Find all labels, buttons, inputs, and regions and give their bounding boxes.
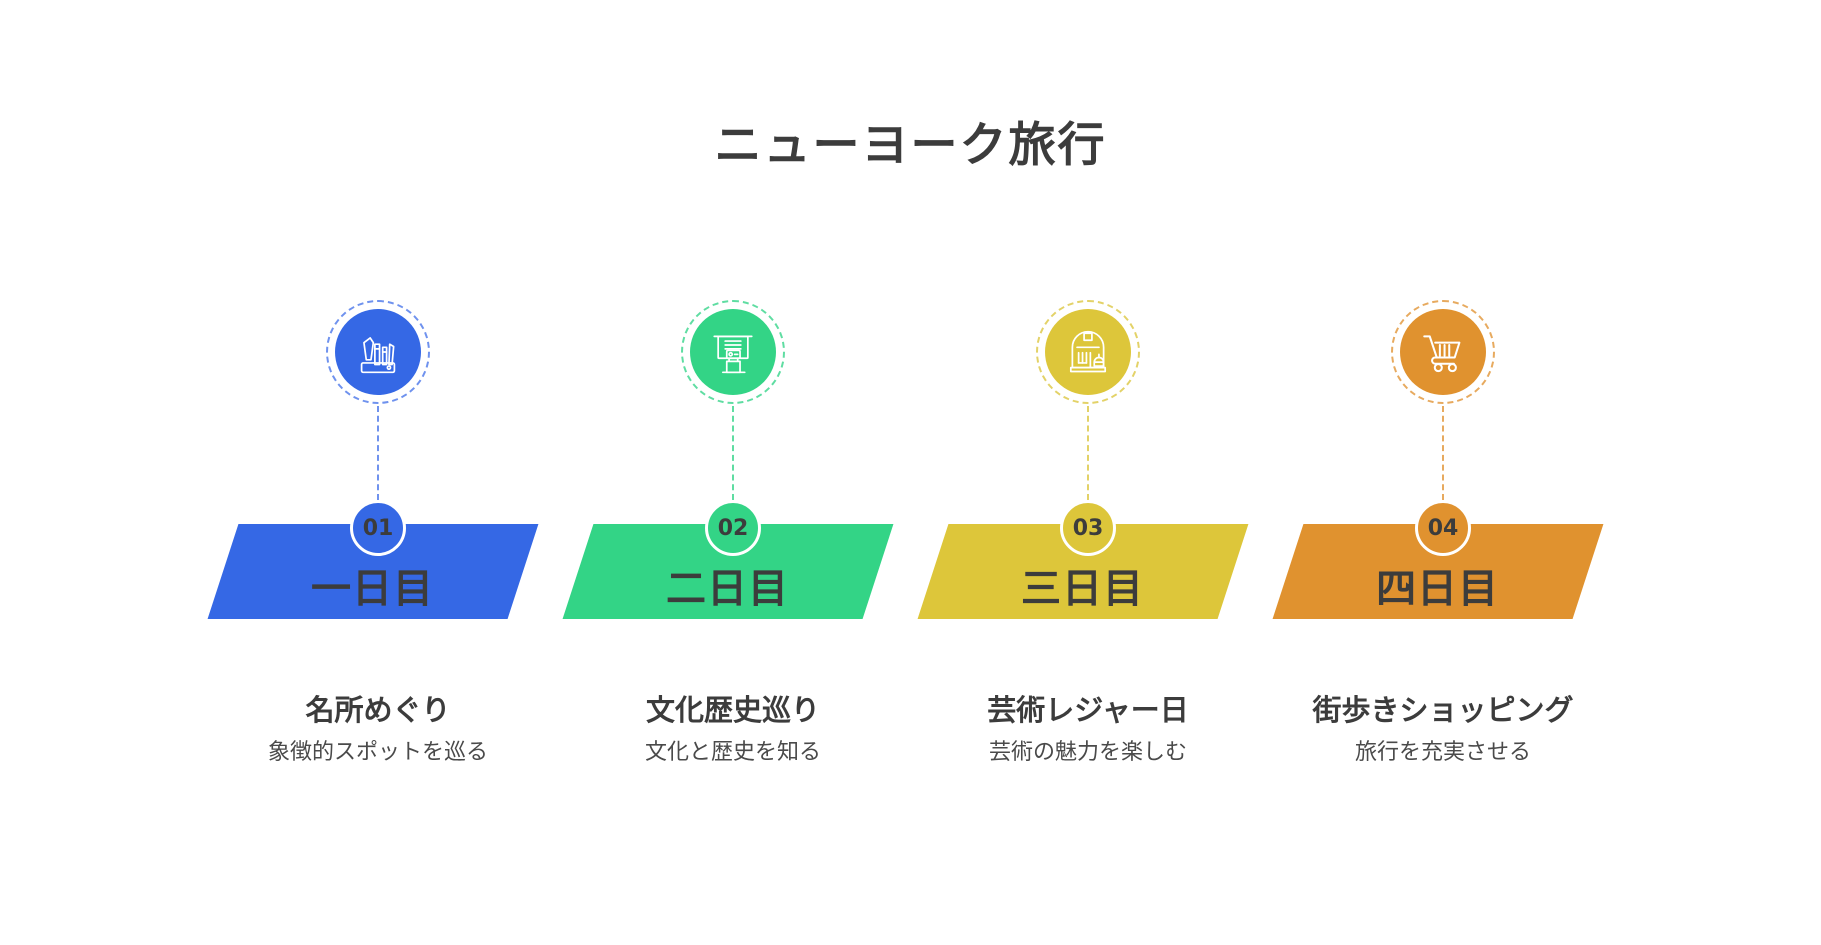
- step-band-area[interactable]: 三日目 03: [911, 500, 1266, 640]
- step-band-area[interactable]: 四日目 04: [1266, 500, 1621, 640]
- step-band-area[interactable]: 二日目 02: [556, 500, 911, 640]
- step-item[interactable]: 四日目 04 街歩きショッピング 旅行を充実させる: [1266, 300, 1621, 769]
- step-number: 02: [718, 516, 749, 541]
- infographic-canvas: ニューヨーク旅行: [0, 0, 1821, 945]
- step-caption-title: 街歩きショッピング: [1273, 692, 1613, 728]
- step-number: 01: [363, 516, 394, 541]
- step-caption-desc: 象徴的スポットを巡る: [258, 736, 498, 769]
- step-number: 03: [1073, 516, 1104, 541]
- step-band-area[interactable]: 一日目 01: [201, 500, 556, 640]
- step-connector-line: [1087, 406, 1089, 500]
- step-number-badge: 01: [350, 500, 406, 556]
- step-caption-desc: 芸術の魅力を楽しむ: [968, 736, 1208, 769]
- step-number: 04: [1428, 516, 1459, 541]
- steps-row: 一日目 01 名所めぐり 象徴的スポットを巡る: [0, 300, 1821, 769]
- icon-disc: [1400, 309, 1486, 395]
- step-item[interactable]: 三日目 03 芸術レジャー日 芸術の魅力を楽しむ: [911, 300, 1266, 769]
- step-icon-bubble[interactable]: [1391, 300, 1495, 404]
- step-number-badge: 02: [705, 500, 761, 556]
- step-caption-desc: 旅行を充実させる: [1283, 736, 1603, 769]
- step-caption: 街歩きショッピング 旅行を充実させる: [1273, 692, 1613, 769]
- step-caption-desc: 文化と歴史を知る: [573, 736, 893, 769]
- step-icon-bubble[interactable]: [1036, 300, 1140, 404]
- step-caption-title: 文化歴史巡り: [563, 692, 903, 728]
- step-item[interactable]: 二日目 02 文化歴史巡り 文化と歴史を知る: [556, 300, 911, 769]
- icon-disc: [1045, 309, 1131, 395]
- icon-disc: [335, 309, 421, 395]
- step-number-badge: 04: [1415, 500, 1471, 556]
- page-title: ニューヨーク旅行: [0, 118, 1821, 174]
- step-caption-title: 名所めぐり: [208, 692, 548, 728]
- step-number-badge: 03: [1060, 500, 1116, 556]
- step-caption: 芸術レジャー日 芸術の魅力を楽しむ: [918, 692, 1258, 769]
- icon-disc: [690, 309, 776, 395]
- paint-brushes-icon: [353, 327, 403, 377]
- step-connector-line: [732, 406, 734, 500]
- projector-screen-icon: [708, 327, 758, 377]
- step-item[interactable]: 一日目 01 名所めぐり 象徴的スポットを巡る: [201, 300, 556, 769]
- step-connector-line: [377, 406, 379, 500]
- step-connector-line: [1442, 406, 1444, 500]
- step-caption: 文化歴史巡り 文化と歴史を知る: [563, 692, 903, 769]
- step-icon-bubble[interactable]: [681, 300, 785, 404]
- step-icon-bubble[interactable]: [326, 300, 430, 404]
- museum-building-icon: [1063, 327, 1113, 377]
- shopping-cart-icon: [1418, 327, 1468, 377]
- step-caption-title: 芸術レジャー日: [918, 692, 1258, 728]
- step-caption: 名所めぐり 象徴的スポットを巡る: [208, 692, 548, 769]
